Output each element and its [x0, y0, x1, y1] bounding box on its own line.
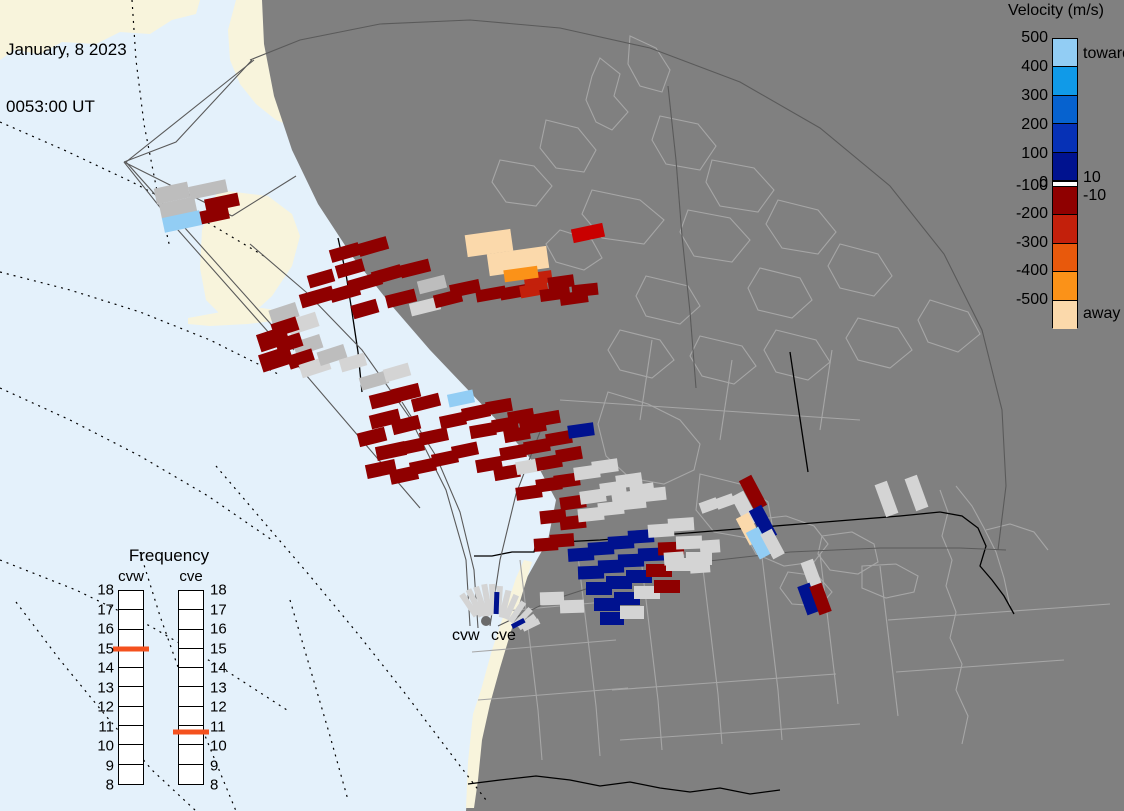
colorbar-tick-label: 100 [1021, 145, 1048, 163]
colorbar-upper-threshold-label: 10 [1083, 169, 1101, 187]
colorbar-tick-label: -500 [1016, 291, 1048, 309]
colorbar-band [1053, 301, 1077, 329]
colorbar-band [1053, 96, 1077, 124]
frequency-tick-left: 11 [90, 718, 114, 735]
frequency-tick-left: 17 [90, 601, 114, 618]
frequency-tick-left: 14 [90, 660, 114, 677]
frequency-tick-left: 9 [90, 757, 114, 774]
frequency-tick-left: 18 [90, 582, 114, 599]
colorbar-tick-label: 500 [1021, 29, 1048, 47]
frequency-cell [119, 745, 143, 764]
frequency-cell [119, 707, 143, 726]
frequency-cell [179, 707, 203, 726]
frequency-marker-cve [173, 730, 209, 735]
colorbar-band [1053, 153, 1077, 181]
colorbar-band [1053, 39, 1077, 67]
colorbar-title: Velocity (m/s) [988, 2, 1124, 20]
frequency-bar-cvw[interactable] [118, 590, 144, 785]
frequency-tick-right: 14 [210, 660, 234, 677]
frequency-tick-right: 15 [210, 640, 234, 657]
frequency-tick-right: 12 [210, 699, 234, 716]
frequency-cell [179, 591, 203, 610]
frequency-legend: Frequency cvwcve181817171616151514141313… [96, 546, 242, 786]
colorbar-band [1053, 67, 1077, 95]
frequency-cell [179, 765, 203, 784]
colorbar-tick-label: -100 [1016, 177, 1048, 195]
colorbar-toward-label: toward [1083, 45, 1124, 63]
frequency-tick-left: 8 [90, 777, 114, 794]
velocity-colorbar: Velocity (m/s) 5004003002001000-100-200-… [988, 0, 1124, 345]
colorbar-band [1053, 272, 1077, 300]
timestamp: January, 8 2023 0053:00 UT [6, 2, 127, 154]
radar-site-label-cve: cve [491, 627, 516, 645]
frequency-cell [179, 649, 203, 668]
frequency-tick-right: 10 [210, 738, 234, 755]
colorbar-tick-label: 200 [1021, 116, 1048, 134]
frequency-cell [119, 687, 143, 706]
frequency-cell [119, 649, 143, 668]
colorbar-band [1053, 124, 1077, 152]
frequency-cell [119, 610, 143, 629]
frequency-column-label-cve: cve [168, 568, 214, 585]
frequency-tick-left: 12 [90, 699, 114, 716]
frequency-title: Frequency [96, 546, 242, 566]
frequency-cell [179, 687, 203, 706]
frequency-marker-cvw [113, 646, 149, 651]
frequency-tick-right: 13 [210, 679, 234, 696]
colorbar-tick-label: -400 [1016, 262, 1048, 280]
colorbar-tick-label: 300 [1021, 87, 1048, 105]
frequency-tick-left: 15 [90, 640, 114, 657]
frequency-cell [179, 668, 203, 687]
frequency-cell [119, 668, 143, 687]
frequency-tick-right: 17 [210, 601, 234, 618]
colorbar-gradient[interactable] [1052, 38, 1078, 328]
frequency-tick-right: 9 [210, 757, 234, 774]
colorbar-lower-threshold-label: -10 [1083, 187, 1106, 205]
frequency-cell [119, 591, 143, 610]
frequency-cell [119, 726, 143, 745]
timestamp-time: 0053:00 UT [6, 97, 127, 116]
frequency-cell [179, 630, 203, 649]
radar-map-canvas: January, 8 2023 0053:00 UT Velocity (m/s… [0, 0, 1124, 811]
frequency-cell [179, 745, 203, 764]
radar-site-label-cvw: cvw [452, 627, 480, 645]
frequency-tick-right: 8 [210, 777, 234, 794]
colorbar-tick-label: 400 [1021, 58, 1048, 76]
colorbar-away-label: away [1083, 305, 1120, 323]
frequency-tick-right: 18 [210, 582, 234, 599]
colorbar-band [1053, 244, 1077, 272]
colorbar-tick-label: -200 [1016, 205, 1048, 223]
frequency-tick-left: 10 [90, 738, 114, 755]
frequency-tick-right: 16 [210, 621, 234, 638]
frequency-cell [119, 765, 143, 784]
timestamp-date: January, 8 2023 [6, 40, 127, 59]
colorbar-band [1053, 215, 1077, 243]
colorbar-tick-label: -300 [1016, 234, 1048, 252]
frequency-tick-right: 11 [210, 718, 234, 735]
frequency-tick-left: 16 [90, 621, 114, 638]
frequency-bar-cve[interactable] [178, 590, 204, 785]
frequency-cell [179, 610, 203, 629]
frequency-column-label-cvw: cvw [108, 568, 154, 585]
colorbar-band [1053, 187, 1077, 215]
frequency-tick-left: 13 [90, 679, 114, 696]
